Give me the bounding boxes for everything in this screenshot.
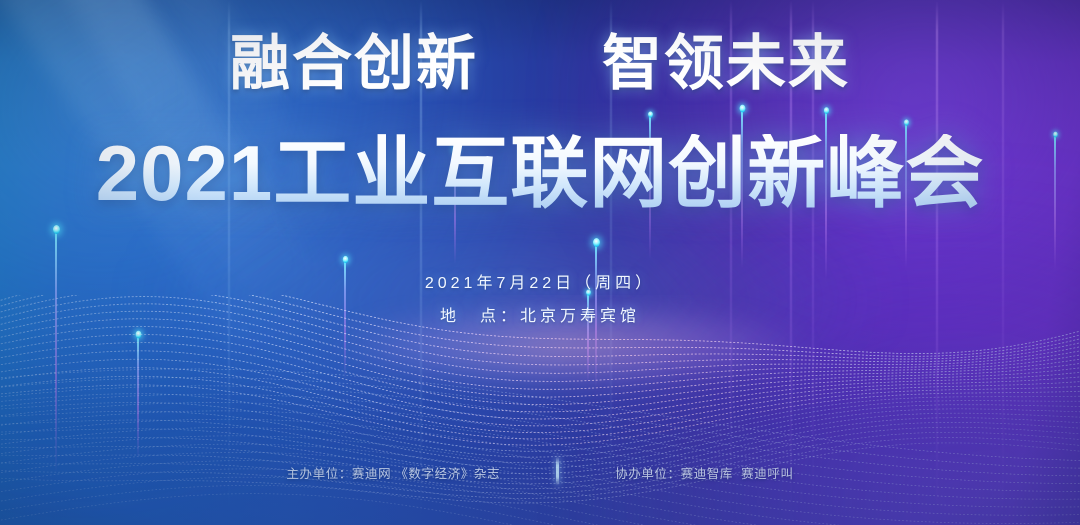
wave-mesh bbox=[0, 295, 1080, 525]
pin-dot-icon bbox=[53, 225, 60, 234]
wave-line bbox=[0, 351, 1080, 419]
wave-line bbox=[0, 405, 1080, 463]
event-date: 2021年7月22日（周四） bbox=[0, 269, 1080, 293]
pin-dot-icon bbox=[593, 238, 600, 247]
page-title: 2021工业互联网创新峰会 bbox=[0, 134, 1080, 212]
wave-line bbox=[0, 343, 1080, 412]
pin-dot-icon bbox=[904, 119, 909, 125]
wave-contour-line bbox=[0, 485, 1080, 525]
pin-dot-icon bbox=[823, 107, 828, 114]
pin-dot-icon bbox=[648, 111, 653, 117]
summit-banner: 融合创新 智领未来 2021工业互联网创新峰会 2021年7月22日（周四） 地… bbox=[0, 0, 1080, 525]
wave-line bbox=[0, 319, 1080, 390]
headline-slogan: 融合创新 智领未来 bbox=[0, 34, 1080, 94]
organizer-text: 主办单位：赛迪网 《数字经济》杂志 bbox=[286, 463, 500, 482]
wave-mesh-svg bbox=[0, 295, 1080, 525]
sponsor-row: 主办单位：赛迪网 《数字经济》杂志 协办单位：赛迪智库 赛迪呼叫 bbox=[0, 459, 1080, 485]
sponsor-divider bbox=[556, 457, 559, 485]
event-location: 地 点：北京万寿宾馆 bbox=[0, 302, 1080, 326]
wave-line bbox=[0, 394, 1080, 452]
wave-contour-line bbox=[0, 369, 1080, 461]
pin-dot-icon bbox=[739, 105, 745, 113]
pin-dot-icon bbox=[342, 256, 348, 263]
co-organizer-text: 协办单位：赛迪智库 赛迪呼叫 bbox=[615, 463, 793, 482]
